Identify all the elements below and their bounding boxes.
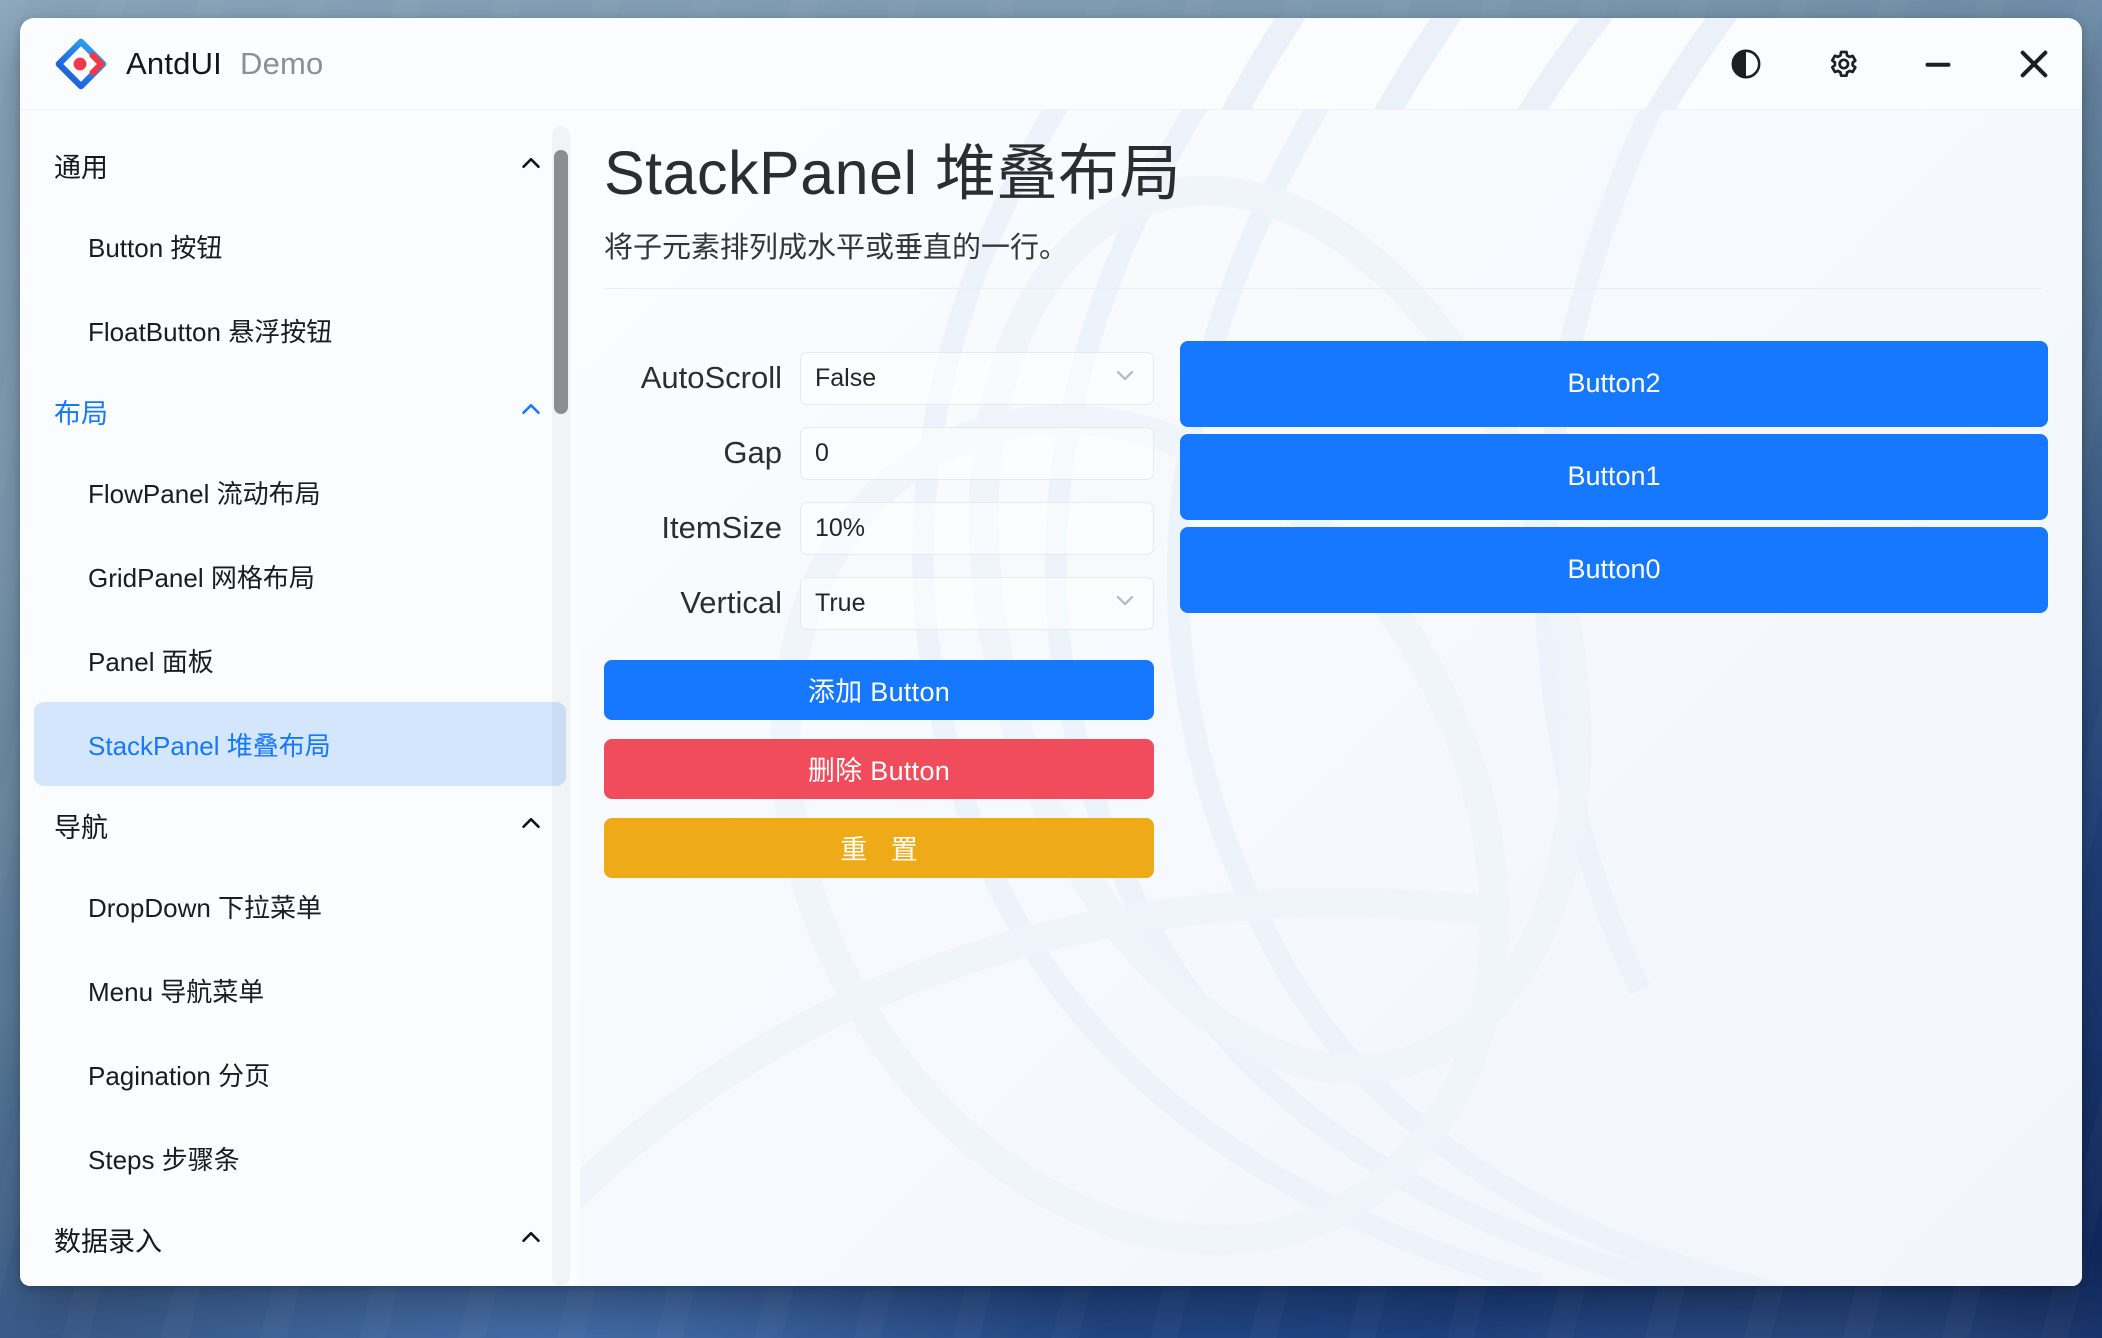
action-button-primary[interactable]: 添加 Button xyxy=(604,660,1154,720)
theme-toggle-button[interactable] xyxy=(1698,18,1794,110)
sidebar-group-label: 导航 xyxy=(54,806,108,845)
sidebar-item-1-1[interactable]: GridPanel 网格布局 xyxy=(34,534,566,618)
sidebar-group-label: 数据录入 xyxy=(54,1220,162,1259)
sidebar-item-2-1[interactable]: Menu 导航菜单 xyxy=(34,948,566,1032)
antdesign-logo-icon xyxy=(54,37,108,91)
minimize-button[interactable] xyxy=(1890,18,1986,110)
config-row-vertical: VerticalTrue xyxy=(604,566,1154,641)
action-button-danger[interactable]: 删除 Button xyxy=(604,739,1154,799)
input-gap[interactable]: 0 xyxy=(800,427,1154,480)
main-content: StackPanel 堆叠布局 将子元素排列成水平或垂直的一行。 AutoScr… xyxy=(580,110,2082,1286)
window-body: 通用Button 按钮FloatButton 悬浮按钮布局FlowPanel 流… xyxy=(20,110,2082,1286)
close-icon xyxy=(2014,44,2054,84)
sidebar-scrollbar-thumb[interactable] xyxy=(554,150,568,414)
chevron-up-icon[interactable] xyxy=(516,148,546,183)
config-label-vertical: Vertical xyxy=(604,585,800,621)
chevron-up-icon[interactable] xyxy=(516,394,546,429)
window-controls xyxy=(1698,18,2082,109)
config-label-itemsize: ItemSize xyxy=(604,510,800,546)
action-button-warn[interactable]: 重 置 xyxy=(604,818,1154,878)
sidebar-group-label: 通用 xyxy=(54,146,108,185)
sidebar-item-2-0[interactable]: DropDown 下拉菜单 xyxy=(34,864,566,948)
field-value: 10% xyxy=(815,514,1139,543)
field-value: True xyxy=(815,589,1111,618)
chevron-down-icon[interactable] xyxy=(1111,361,1139,396)
stackpanel-preview: Button2Button1Button0 xyxy=(1180,341,2082,620)
chevron-up-icon[interactable] xyxy=(516,1222,546,1257)
sidebar-group-2[interactable]: 导航 xyxy=(20,786,580,864)
sidebar-navigation: 通用Button 按钮FloatButton 悬浮按钮布局FlowPanel 流… xyxy=(20,110,580,1286)
sidebar-item-1-2[interactable]: Panel 面板 xyxy=(34,618,566,702)
app-subtitle: Demo xyxy=(240,46,324,82)
config-row-itemsize: ItemSize10% xyxy=(604,491,1154,566)
minimize-icon xyxy=(1920,46,1956,82)
sidebar-scroll-content: 通用Button 按钮FloatButton 悬浮按钮布局FlowPanel 流… xyxy=(20,110,580,1278)
sidebar-group-0[interactable]: 通用 xyxy=(20,126,580,204)
stack-button-0[interactable]: Button2 xyxy=(1180,341,2048,427)
config-label-gap: Gap xyxy=(604,435,800,471)
close-button[interactable] xyxy=(1986,18,2082,110)
chevron-up-icon[interactable] xyxy=(516,808,546,843)
sidebar-item-2-2[interactable]: Pagination 分页 xyxy=(34,1032,566,1116)
settings-button[interactable] xyxy=(1794,18,1890,110)
input-itemsize[interactable]: 10% xyxy=(800,502,1154,555)
sidebar-item-1-3[interactable]: StackPanel 堆叠布局 xyxy=(34,702,566,786)
config-label-autoscroll: AutoScroll xyxy=(604,360,800,396)
demo-area: AutoScrollFalseGap0ItemSize10%VerticalTr… xyxy=(580,311,2082,878)
sidebar-group-3[interactable]: 数据录入 xyxy=(20,1200,580,1278)
sidebar-group-label: 布局 xyxy=(54,392,108,431)
field-value: False xyxy=(815,364,1111,393)
brand: AntdUI Demo xyxy=(54,37,323,91)
sidebar-item-1-0[interactable]: FlowPanel 流动布局 xyxy=(34,450,566,534)
page-description: 将子元素排列成水平或垂直的一行。 xyxy=(604,224,2042,266)
contrast-icon xyxy=(1729,47,1763,81)
header-divider xyxy=(604,288,2042,289)
sidebar-group-1[interactable]: 布局 xyxy=(20,372,580,450)
config-row-gap: Gap0 xyxy=(604,416,1154,491)
config-form: AutoScrollFalseGap0ItemSize10%VerticalTr… xyxy=(604,341,1154,878)
stack-button-2[interactable]: Button0 xyxy=(1180,527,2048,613)
app-title: AntdUI xyxy=(126,46,222,82)
gear-icon xyxy=(1824,46,1860,82)
sidebar-scrollbar-track[interactable] xyxy=(552,126,570,1286)
app-window: AntdUI Demo xyxy=(20,18,2082,1286)
sidebar-item-0-0[interactable]: Button 按钮 xyxy=(34,204,566,288)
sidebar-item-2-3[interactable]: Steps 步骤条 xyxy=(34,1116,566,1200)
title-bar[interactable]: AntdUI Demo xyxy=(20,18,2082,110)
page-header: StackPanel 堆叠布局 将子元素排列成水平或垂直的一行。 xyxy=(580,110,2082,311)
select-vertical[interactable]: True xyxy=(800,577,1154,630)
field-value: 0 xyxy=(815,439,1139,468)
page-title: StackPanel 堆叠布局 xyxy=(604,138,2042,210)
chevron-down-icon[interactable] xyxy=(1111,586,1139,621)
sidebar-item-0-1[interactable]: FloatButton 悬浮按钮 xyxy=(34,288,566,372)
config-row-autoscroll: AutoScrollFalse xyxy=(604,341,1154,416)
select-autoscroll[interactable]: False xyxy=(800,352,1154,405)
stack-button-1[interactable]: Button1 xyxy=(1180,434,2048,520)
